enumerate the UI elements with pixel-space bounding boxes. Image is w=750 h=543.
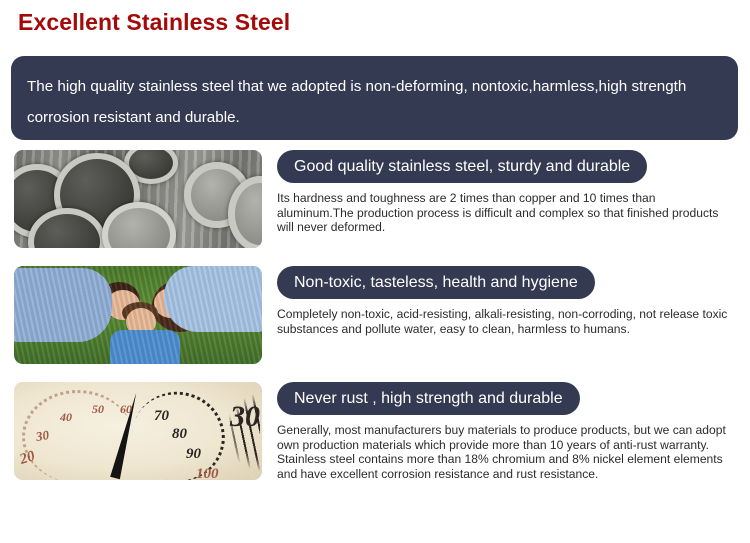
hair-shape — [122, 302, 158, 324]
gauge-label: 60 — [120, 402, 132, 417]
shirt-shape — [110, 330, 180, 364]
page-title: Excellent Stainless Steel — [18, 9, 290, 36]
gauge-label: 90 — [186, 446, 201, 463]
hair-shape — [98, 282, 140, 318]
feature-image-family-on-grass — [14, 266, 262, 364]
feature-title-pill: Non-toxic, tasteless, health and hygiene — [277, 266, 595, 299]
product-description-page: Excellent Stainless Steel The high quali… — [0, 0, 750, 543]
feature-title-pill: Never rust , high strength and durable — [277, 382, 580, 415]
feature-body-text: Its hardness and toughness are 2 times t… — [277, 191, 733, 235]
shirt-shape — [164, 266, 262, 332]
feature-image-thermometer-gauge: 20 30 40 50 60 70 80 90 100 30 — [14, 382, 262, 480]
feature-title-pill: Good quality stainless steel, sturdy and… — [277, 150, 647, 183]
gauge-label: 30 — [35, 427, 51, 445]
gauge-label: 70 — [154, 408, 169, 425]
gauge-label: 50 — [92, 402, 104, 417]
gauge-label: 80 — [172, 426, 187, 443]
intro-text: The high quality stainless steel that we… — [27, 71, 722, 133]
family-illustration — [14, 266, 262, 364]
intro-banner: The high quality stainless steel that we… — [11, 56, 738, 140]
feature-image-stainless-steel-pipes — [14, 150, 262, 248]
hair-shape — [152, 280, 208, 332]
feature-body-text: Completely non-toxic, acid-resisting, al… — [277, 307, 733, 336]
gauge-label: 100 — [196, 466, 219, 480]
face-shape — [126, 308, 156, 336]
pipes-illustration — [14, 150, 262, 248]
gauge-label: 40 — [60, 410, 72, 425]
gauge-label-large: 30 — [230, 400, 260, 434]
face-shape — [154, 288, 188, 318]
shirt-shape — [14, 268, 112, 342]
face-shape — [106, 290, 140, 320]
thermometer-illustration: 20 30 40 50 60 70 80 90 100 30 — [14, 382, 262, 480]
feature-body-text: Generally, most manufacturers buy materi… — [277, 423, 733, 481]
